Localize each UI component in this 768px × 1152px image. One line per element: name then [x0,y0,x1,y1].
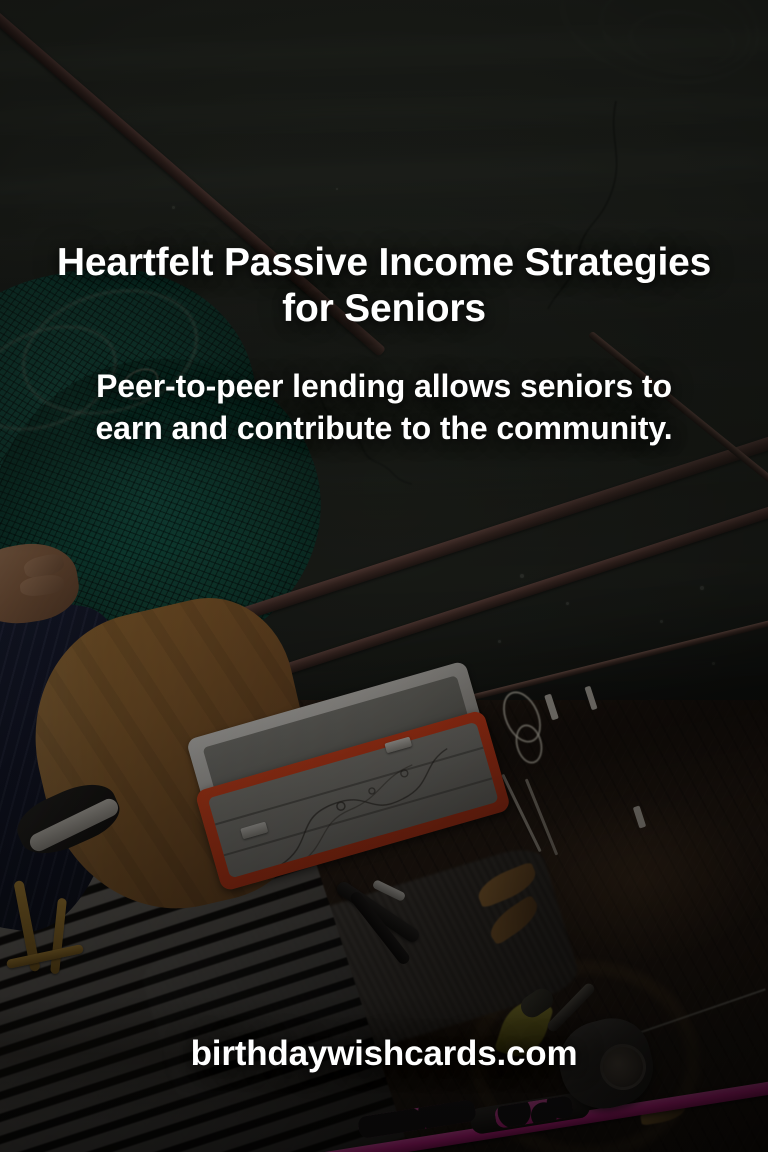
page-title: Heartfelt Passive Income Strategies for … [50,240,718,332]
text-layer: Heartfelt Passive Income Strategies for … [0,0,768,1152]
page-subtitle: Peer-to-peer lending allows seniors to e… [62,366,706,449]
footer-website-url: birthdaywishcards.com [0,1034,768,1074]
pinterest-card: Heartfelt Passive Income Strategies for … [0,0,768,1152]
